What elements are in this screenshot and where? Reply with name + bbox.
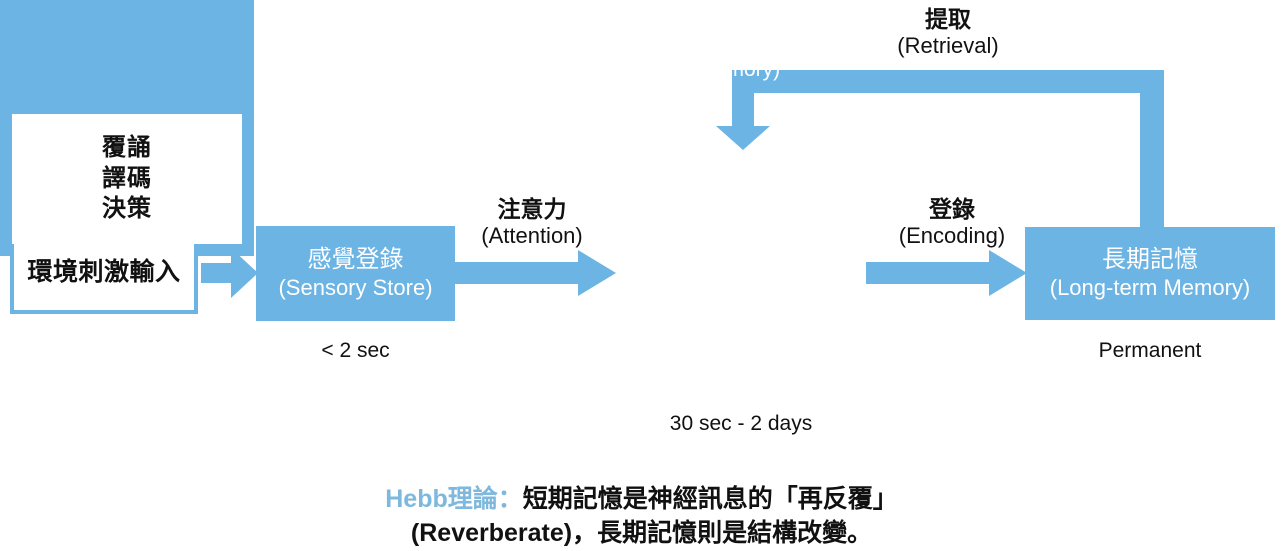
stm-process-item-1: 覆誦 bbox=[102, 133, 152, 164]
box-short-term-working-memory: 短期/工作記憶 (Short-term/Working Memory) 覆誦 譯… bbox=[0, 0, 254, 256]
hebb-theory-caption: Hebb理論：短期記憶是神經訊息的「再反覆」 (Reverberate)，長期記… bbox=[0, 482, 1283, 550]
diagram-canvas: 提取 (Retrieval) 環境刺激輸入 感覺登錄 (Sensory Stor… bbox=[0, 0, 1283, 551]
arrow-label-encoding-en: (Encoding) bbox=[872, 223, 1032, 249]
arrow-shaft bbox=[866, 262, 992, 284]
box-long-term-memory-cn: 長期記憶 bbox=[1102, 246, 1198, 274]
arrow-sensory-to-stm-icon bbox=[455, 250, 616, 296]
timing-label-short-term-memory: 30 sec - 2 days bbox=[600, 412, 882, 436]
box-stm-inner-process-list: 覆誦 譯碼 決策 bbox=[12, 114, 242, 244]
box-stm-cn: 短期/工作記憶 bbox=[569, 31, 713, 58]
arrow-head bbox=[231, 248, 258, 298]
arrow-label-encoding: 登錄 (Encoding) bbox=[872, 196, 1032, 249]
arrow-head bbox=[578, 250, 616, 296]
arrow-shaft bbox=[455, 262, 581, 284]
arrow-label-encoding-cn: 登錄 bbox=[872, 196, 1032, 223]
box-sensory-store-cn: 感覺登錄 bbox=[308, 246, 404, 274]
box-long-term-memory: 長期記憶 (Long-term Memory) bbox=[1025, 227, 1275, 320]
timing-label-sensory-store: < 2 sec bbox=[256, 339, 455, 363]
box-sensory-store: 感覺登錄 (Sensory Store) bbox=[256, 226, 455, 321]
arrow-label-attention-en: (Attention) bbox=[447, 223, 617, 249]
retrieval-arrowhead-icon bbox=[716, 126, 770, 150]
arrow-input-to-sensory-icon bbox=[201, 248, 258, 298]
arrow-label-attention-cn: 注意力 bbox=[447, 196, 617, 223]
box-stm-en: (Short-term/Working Memory) bbox=[503, 58, 780, 83]
stm-process-item-2: 譯碼 bbox=[102, 164, 152, 195]
stm-process-item-3: 決策 bbox=[102, 194, 152, 225]
box-environment-input-cn: 環境刺激輸入 bbox=[27, 258, 180, 288]
arrow-head bbox=[989, 250, 1027, 296]
box-environment-input: 環境刺激輸入 bbox=[10, 232, 198, 314]
box-sensory-store-en: (Sensory Store) bbox=[278, 275, 432, 301]
caption-accent-text: Hebb理論： bbox=[385, 485, 523, 513]
timing-label-long-term-memory: Permanent bbox=[1025, 339, 1275, 363]
caption-line-2: (Reverberate)，長期記憶則是結構改變。 bbox=[0, 516, 1283, 550]
caption-line-1: Hebb理論：短期記憶是神經訊息的「再反覆」 bbox=[0, 482, 1283, 516]
box-long-term-memory-en: (Long-term Memory) bbox=[1050, 275, 1250, 301]
arrow-label-attention: 注意力 (Attention) bbox=[447, 196, 617, 249]
caption-line-1-rest: 短期記憶是神經訊息的「再反覆」 bbox=[523, 485, 898, 513]
box-stm-header: 短期/工作記憶 (Short-term/Working Memory) bbox=[0, 0, 1283, 114]
arrow-stm-to-ltm-icon bbox=[866, 250, 1027, 296]
arrow-shaft bbox=[201, 263, 234, 283]
